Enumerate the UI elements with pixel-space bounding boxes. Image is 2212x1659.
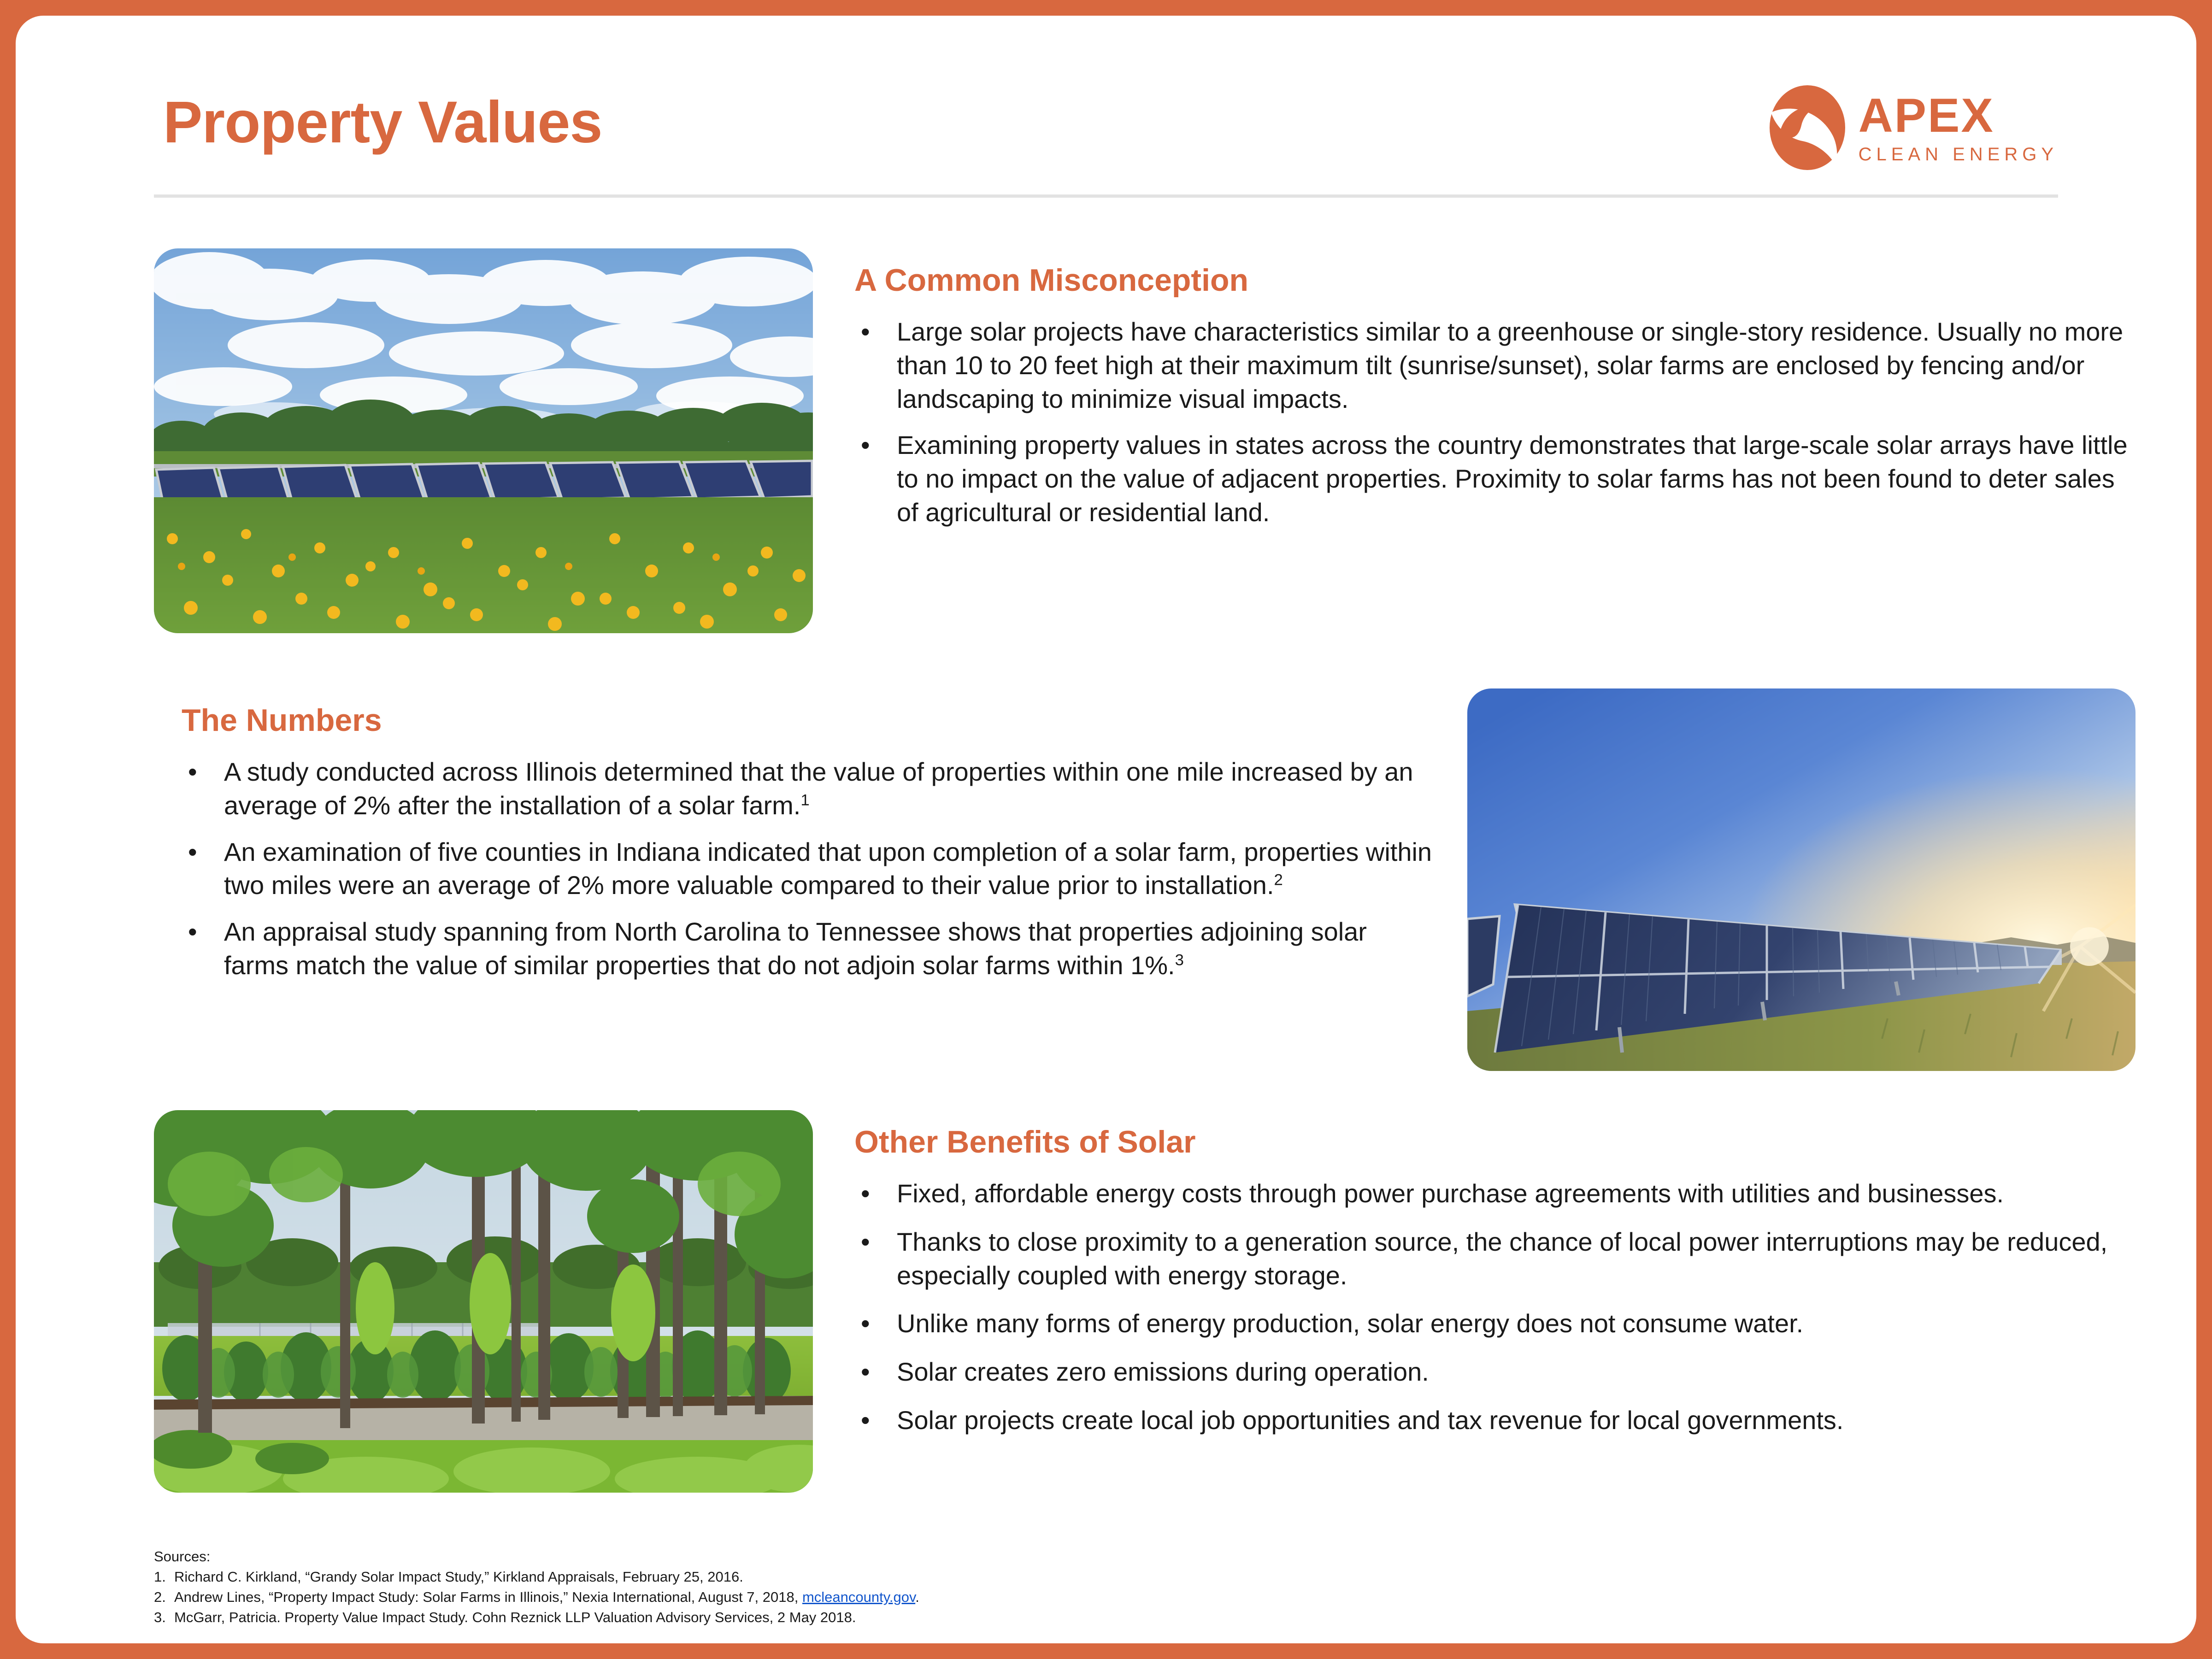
bullet-text: Solar creates zero emissions during oper… <box>897 1357 1429 1386</box>
bullet-dot-icon: • <box>861 1355 870 1389</box>
bullet-dot-icon: • <box>861 1177 870 1211</box>
bullet-text: Unlike many forms of energy production, … <box>897 1309 1803 1338</box>
solar-sunset-photo <box>1467 688 2136 1071</box>
slide-header: Property Values APEX CLEAN ENERGY <box>154 66 2058 200</box>
bullet-text: Thanks to close proximity to a generatio… <box>897 1227 2107 1290</box>
list-item: • Examining property values in states ac… <box>854 429 2140 529</box>
slide-canvas: Property Values APEX CLEAN ENERGY <box>16 16 2196 1643</box>
page-title: Property Values <box>163 88 602 156</box>
source-text: Richard C. Kirkland, “Grandy Solar Impac… <box>174 1569 743 1585</box>
section-heading-numbers: The Numbers <box>182 702 382 738</box>
bullet-dot-icon: • <box>861 1404 870 1437</box>
bullet-text: Solar projects create local job opportun… <box>897 1406 1843 1435</box>
list-item: • Solar creates zero emissions during op… <box>854 1355 2140 1389</box>
section-heading-benefits: Other Benefits of Solar <box>854 1124 1196 1160</box>
footnote-marker: 3 <box>1175 951 1184 969</box>
solar-meadow-photo <box>154 248 813 633</box>
bullet-list-numbers: • A study conducted across Illinois dete… <box>182 755 1435 982</box>
bullet-text: Fixed, affordable energy costs through p… <box>897 1179 2004 1208</box>
bullet-list-benefits: • Fixed, affordable energy costs through… <box>854 1177 2140 1452</box>
sources-label: Sources: <box>154 1547 1629 1567</box>
header-divider <box>154 194 2058 198</box>
slide-orange-border: Property Values APEX CLEAN ENERGY <box>0 0 2212 1659</box>
apex-logo-tagline: CLEAN ENERGY <box>1859 145 2058 164</box>
source-link[interactable]: mcleancounty.gov <box>802 1589 915 1605</box>
apex-logo-wordmark: APEX CLEAN ENERGY <box>1859 92 2058 164</box>
bullet-text: A study conducted across Illinois determ… <box>224 757 1413 820</box>
sources-block: Sources: 1.Richard C. Kirkland, “Grandy … <box>154 1547 1629 1628</box>
bullet-dot-icon: • <box>861 429 870 462</box>
bullet-dot-icon: • <box>188 835 197 869</box>
bullet-text: An examination of five counties in India… <box>224 837 1432 900</box>
list-item: • Unlike many forms of energy production… <box>854 1307 2140 1341</box>
source-text-tail: . <box>915 1589 919 1605</box>
source-entry-1: 1.Richard C. Kirkland, “Grandy Solar Imp… <box>154 1567 1629 1587</box>
bullet-dot-icon: • <box>861 315 870 349</box>
bullet-dot-icon: • <box>188 915 197 949</box>
bullet-text: Examining property values in states acro… <box>897 430 2128 527</box>
tree-buffer-photo <box>154 1110 813 1493</box>
apex-logo-word: APEX <box>1859 92 2058 140</box>
source-number: 2. <box>154 1587 174 1607</box>
source-number: 1. <box>154 1567 174 1587</box>
source-text: McGarr, Patricia. Property Value Impact … <box>174 1609 856 1625</box>
list-item: • Solar projects create local job opport… <box>854 1404 2140 1437</box>
list-item: • Large solar projects have characterist… <box>854 315 2140 416</box>
source-entry-2: 2.Andrew Lines, “Property Impact Study: … <box>154 1587 1629 1607</box>
list-item: • An examination of five counties in Ind… <box>182 835 1435 903</box>
list-item: • Fixed, affordable energy costs through… <box>854 1177 2140 1211</box>
bullet-dot-icon: • <box>188 755 197 789</box>
list-item: • A study conducted across Illinois dete… <box>182 755 1435 823</box>
bullet-dot-icon: • <box>861 1307 870 1341</box>
bullet-dot-icon: • <box>861 1225 870 1259</box>
apex-swirl-logo-icon <box>1768 84 1847 171</box>
list-item: • An appraisal study spanning from North… <box>182 915 1435 982</box>
footnote-marker: 2 <box>1274 871 1283 889</box>
list-item: • Thanks to close proximity to a generat… <box>854 1225 2140 1293</box>
bullet-list-misconception: • Large solar projects have characterist… <box>854 315 2140 529</box>
bullet-text: Large solar projects have characteristic… <box>897 317 2123 413</box>
source-text: Andrew Lines, “Property Impact Study: So… <box>174 1589 802 1605</box>
source-number: 3. <box>154 1607 174 1628</box>
bullet-text: An appraisal study spanning from North C… <box>224 917 1367 980</box>
apex-clean-energy-logo: APEX CLEAN ENERGY <box>1768 84 2058 171</box>
source-entry-3: 3.McGarr, Patricia. Property Value Impac… <box>154 1607 1629 1628</box>
footnote-marker: 1 <box>800 791 809 809</box>
section-heading-misconception: A Common Misconception <box>854 262 1248 298</box>
